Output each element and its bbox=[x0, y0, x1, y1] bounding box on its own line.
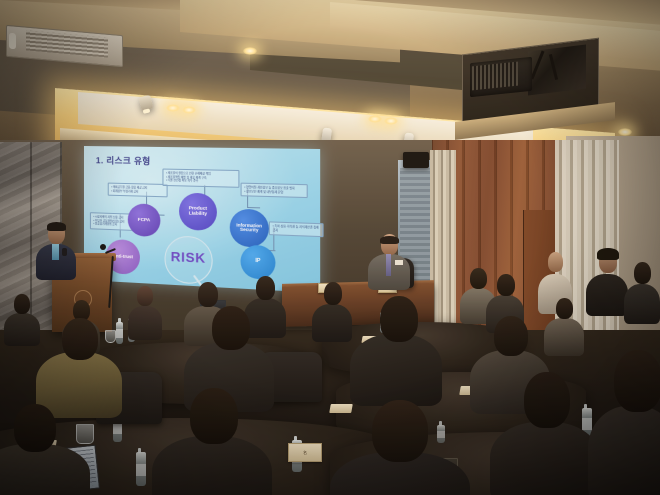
head bbox=[14, 294, 30, 314]
microphone-head-icon bbox=[100, 244, 106, 250]
bottle-label bbox=[136, 464, 146, 477]
ceiling bbox=[0, 0, 660, 150]
hair bbox=[597, 248, 619, 260]
hair bbox=[380, 236, 399, 244]
projector-vent-grill bbox=[472, 62, 518, 91]
name-card: 名 bbox=[288, 443, 322, 462]
callout-box: • 해외공무원 금품·향응 제공 금지 • 회계장부 부정기재 금지 bbox=[108, 183, 168, 198]
person-audience-nearest bbox=[490, 372, 600, 495]
person-audience-nearest bbox=[588, 350, 660, 495]
person-audience-nearest bbox=[152, 388, 272, 495]
wall-speaker bbox=[403, 152, 429, 168]
callout-line: • 특허·상표·저작권 등 지식재산권 침해 금지 bbox=[273, 225, 320, 234]
downlight-icon bbox=[182, 106, 196, 114]
head bbox=[494, 316, 528, 356]
torso bbox=[128, 306, 162, 340]
head bbox=[548, 252, 563, 272]
diagram-node-product-liability: Product Liability bbox=[179, 193, 217, 232]
node-label: IP bbox=[255, 259, 260, 265]
head bbox=[634, 262, 651, 284]
callout-line: • 정보보안 체계 및 내부통제 운영 bbox=[244, 190, 304, 195]
torso bbox=[0, 444, 90, 495]
person-audience-nearest bbox=[0, 404, 90, 495]
person-audience-foreground bbox=[350, 296, 442, 400]
torso bbox=[544, 318, 584, 356]
torso bbox=[152, 436, 272, 495]
person-audience bbox=[128, 286, 162, 338]
head bbox=[556, 298, 573, 319]
torso bbox=[490, 422, 600, 495]
callout-line: • 회계장부 부정기재 금지 bbox=[111, 189, 164, 194]
downlight-icon bbox=[166, 104, 180, 112]
risk-center-label: RISK bbox=[171, 249, 206, 266]
person-panelist bbox=[368, 234, 410, 288]
torso bbox=[312, 304, 352, 342]
conference-room-photo: 1. 리스크 유형 • 해외공무원 금품·향응 제공 금지 • 회계장부 부정기… bbox=[0, 0, 660, 495]
badge bbox=[395, 260, 403, 265]
person-audience bbox=[624, 262, 660, 320]
head bbox=[324, 282, 342, 305]
callout-box: • 특허·상표·저작권 등 지식재산권 침해 금지 bbox=[269, 221, 324, 237]
callout-box: • 제조물의 결함으로 인한 손해배상 책임 • 제조물책임 예방 및 대응 체… bbox=[162, 169, 239, 188]
necktie bbox=[52, 244, 59, 260]
head bbox=[212, 306, 250, 350]
downlight-icon bbox=[384, 117, 398, 125]
projection-screen: 1. 리스크 유형 • 해외공무원 금품·향응 제공 금지 • 회계장부 부정기… bbox=[84, 146, 320, 293]
torso bbox=[588, 406, 660, 495]
head bbox=[198, 282, 218, 307]
head bbox=[14, 404, 56, 452]
head bbox=[62, 318, 98, 360]
torso bbox=[4, 313, 40, 346]
callout-box: • 영업비밀·개인정보 등 중요정보 유출 방지 • 정보보안 체계 및 내부통… bbox=[241, 183, 308, 198]
head bbox=[190, 388, 238, 444]
handheld-microphone-icon bbox=[62, 248, 67, 256]
node-label: FCPA bbox=[138, 217, 150, 222]
slide-title: 1. 리스크 유형 bbox=[96, 154, 151, 167]
node-label: Product Liability bbox=[189, 206, 207, 217]
torso bbox=[624, 284, 660, 324]
person-audience bbox=[312, 282, 352, 340]
person-audience bbox=[586, 250, 628, 312]
downlight-icon bbox=[368, 115, 382, 123]
water-bottle[interactable] bbox=[136, 452, 146, 486]
hair bbox=[47, 222, 66, 231]
head bbox=[256, 276, 275, 300]
name-card-text: 名 bbox=[303, 450, 307, 456]
person-presenter bbox=[36, 222, 76, 278]
torso bbox=[586, 274, 628, 316]
head bbox=[497, 274, 515, 296]
necktie bbox=[386, 254, 391, 276]
torso bbox=[350, 334, 442, 406]
person-audience bbox=[544, 298, 584, 352]
diagram-node-fcpa: FCPA bbox=[128, 203, 161, 237]
diagram-node-information-security: Information Security bbox=[230, 209, 269, 248]
person-audience-foreground bbox=[36, 318, 122, 414]
node-label: Information Security bbox=[236, 223, 262, 233]
downlight-icon bbox=[243, 47, 257, 55]
person-audience bbox=[4, 294, 40, 344]
head bbox=[372, 400, 428, 462]
air-conditioner-knob bbox=[9, 33, 16, 50]
head bbox=[137, 286, 153, 306]
head bbox=[614, 350, 660, 412]
head bbox=[470, 268, 487, 289]
head bbox=[380, 296, 418, 342]
downlight-icon bbox=[618, 128, 632, 136]
head bbox=[524, 372, 570, 428]
person-audience-nearest bbox=[330, 400, 470, 495]
